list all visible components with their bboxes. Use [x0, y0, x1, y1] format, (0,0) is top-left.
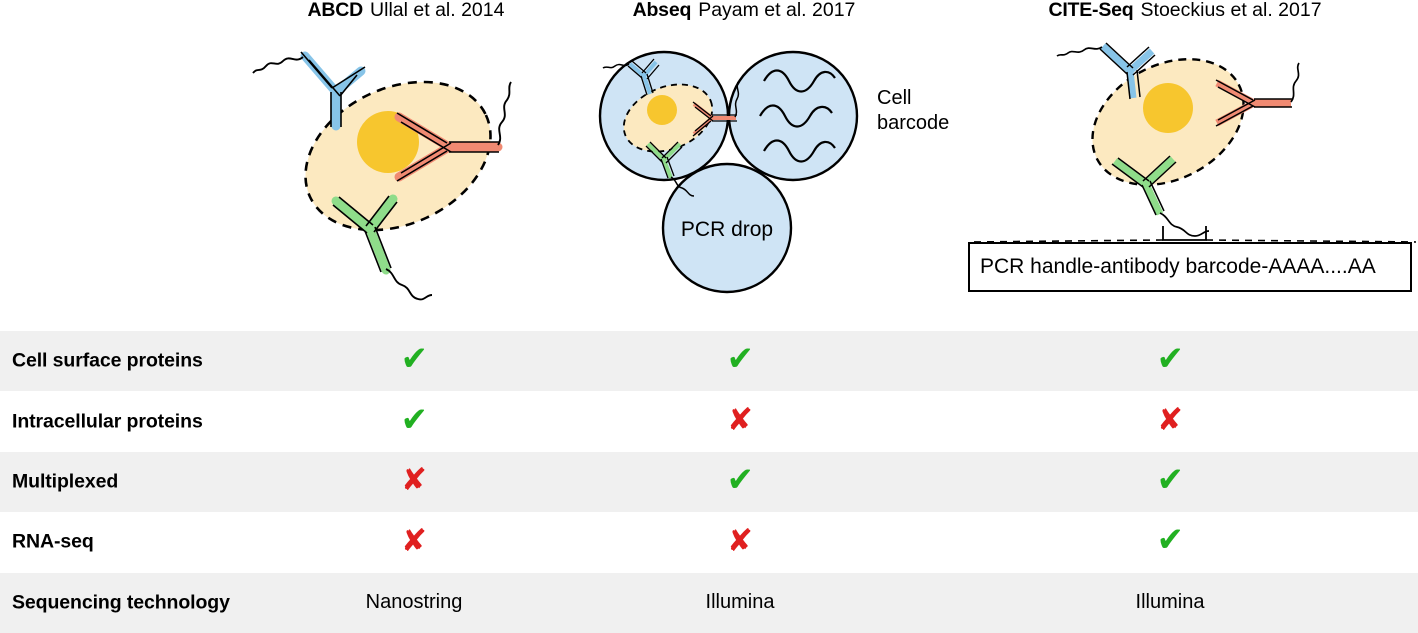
table-row: Intracellular proteins ✔ ✘ ✘ [0, 391, 1418, 451]
column-citation: Payam et al. 2017 [698, 0, 855, 21]
cell-value: Illumina [1136, 591, 1205, 614]
diagram-abcd [246, 26, 576, 321]
table-cell: ✔ [1090, 331, 1250, 391]
column-header-cite-seq: CITE-SeqStoeckius et al. 2017 [1020, 0, 1350, 22]
row-label: Multiplexed [12, 470, 118, 493]
comparison-figure: ABCDUllal et al. 2014 AbseqPayam et al. … [0, 0, 1418, 633]
abcd-cell-svg [246, 26, 576, 321]
table-row: Cell surface proteins ✔ ✔ ✔ [0, 331, 1418, 391]
table-cell: ✘ [1090, 391, 1250, 451]
oligo-tail-green [1160, 213, 1209, 236]
table-row: RNA-seq ✘ ✘ ✔ [0, 512, 1418, 572]
cross-icon: ✘ [1157, 405, 1183, 436]
cell-value: Nanostring [366, 591, 463, 614]
column-method-name: ABCD [308, 0, 364, 21]
pcr-drop-label: PCR drop [681, 218, 773, 241]
cross-icon: ✘ [401, 465, 427, 496]
table-cell: ✔ [334, 391, 494, 451]
oligo-tail-red [498, 82, 511, 145]
oligo-tail-blue [253, 57, 303, 73]
callout-bracket [1163, 226, 1206, 240]
cell-value: Illumina [706, 591, 775, 614]
cross-icon: ✘ [727, 405, 753, 436]
cross-icon: ✘ [727, 526, 753, 557]
oligo-tail-green [386, 269, 432, 299]
table-cell: ✔ [334, 331, 494, 391]
table-cell: Illumina [1090, 573, 1250, 633]
check-icon: ✔ [400, 342, 427, 376]
sequence-callout-box: PCR handle-antibody barcode-AAAA....AA [968, 242, 1412, 292]
table-cell: ✔ [1090, 512, 1250, 572]
column-citation: Stoeckius et al. 2017 [1141, 0, 1322, 21]
row-label: Cell surface proteins [12, 350, 203, 373]
check-icon: ✔ [400, 403, 427, 437]
table-cell: ✘ [334, 452, 494, 512]
table-cell: ✔ [1090, 452, 1250, 512]
oligo-tail-red [1291, 63, 1299, 102]
diagram-abseq: PCR drop Cell barcode [586, 26, 986, 321]
cross-icon: ✘ [401, 526, 427, 557]
column-header-abseq: AbseqPayam et al. 2017 [622, 0, 866, 22]
abseq-droplets-svg: PCR drop [586, 26, 986, 321]
table-cell: ✘ [660, 391, 820, 451]
mini-nucleus [647, 95, 677, 125]
table-cell: Nanostring [334, 573, 494, 633]
row-label: Intracellular proteins [12, 410, 203, 433]
table-cell: ✔ [660, 452, 820, 512]
column-method-name: CITE-Seq [1048, 0, 1133, 21]
column-header-abcd: ABCDUllal et al. 2014 [284, 0, 528, 22]
droplet-barcode [729, 52, 857, 180]
table-cell: ✘ [660, 512, 820, 572]
check-icon: ✔ [726, 463, 753, 497]
table-cell: Illumina [660, 573, 820, 633]
check-icon: ✔ [1156, 463, 1183, 497]
comparison-table: Cell surface proteins ✔ ✔ ✔ Intracellula… [0, 331, 1418, 633]
cell-barcode-label: Cell barcode [877, 86, 949, 136]
nucleus [1143, 83, 1193, 133]
column-citation: Ullal et al. 2014 [370, 0, 504, 21]
oligo-tail-blue [1057, 47, 1102, 56]
check-icon: ✔ [1156, 523, 1183, 557]
check-icon: ✔ [1156, 342, 1183, 376]
table-cell: ✔ [660, 331, 820, 391]
row-label: RNA-seq [12, 531, 94, 554]
table-row: Sequencing technology Nanostring Illumin… [0, 573, 1418, 633]
column-method-name: Abseq [633, 0, 692, 21]
table-cell: ✘ [334, 512, 494, 572]
row-label: Sequencing technology [12, 591, 230, 614]
check-icon: ✔ [726, 342, 753, 376]
sequence-callout-text: PCR handle-antibody barcode-AAAA....AA [980, 255, 1376, 279]
table-row: Multiplexed ✘ ✔ ✔ [0, 452, 1418, 512]
